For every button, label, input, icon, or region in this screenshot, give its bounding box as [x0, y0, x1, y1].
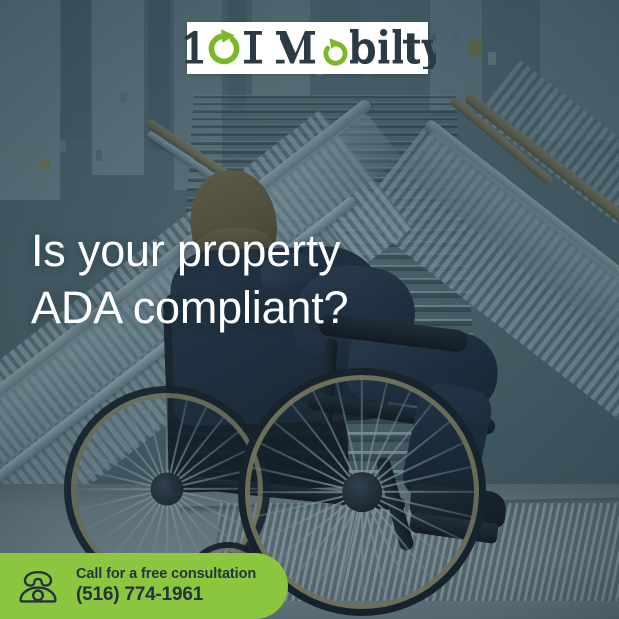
brand-logo-lockup: ® — [171, 22, 445, 74]
call-to-action-bar[interactable]: Call for a free consultation (516) 774-1… — [0, 553, 288, 619]
headline-line-1: Is your property — [31, 223, 461, 280]
cta-phone-number[interactable]: (516) 774-1961 — [76, 583, 256, 607]
circular-arrow-icon — [211, 29, 236, 61]
brand-logo-plate[interactable]: ® — [187, 22, 428, 74]
ad-creative: ® Is your property ADA compliant? Call f… — [0, 0, 619, 619]
circular-arrow-icon — [325, 38, 344, 63]
telephone-icon — [17, 566, 63, 606]
logo-101-mobility — [180, 27, 403, 69]
cta-headline: Call for a free consultation — [76, 565, 256, 584]
page-title: Is your property ADA compliant? — [31, 223, 461, 336]
registered-trademark-symbol: ® — [431, 33, 436, 42]
cta-text-block: Call for a free consultation (516) 774-1… — [76, 565, 256, 607]
headline-line-2: ADA compliant? — [31, 280, 461, 337]
logo-wordmark-tail: ® — [402, 27, 436, 69]
